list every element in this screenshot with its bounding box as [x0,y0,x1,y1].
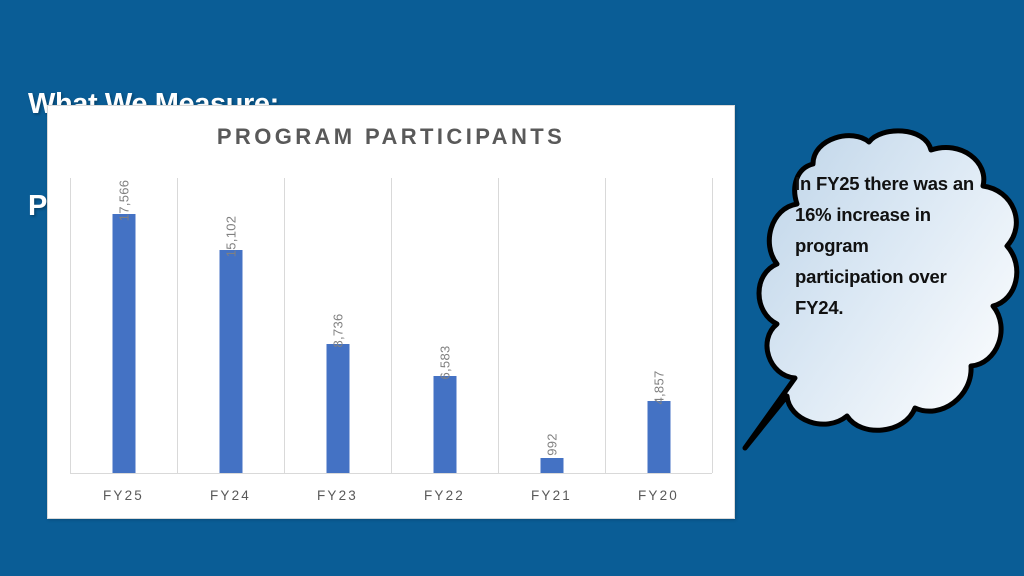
chart-bar-value-label: 992 [544,433,559,456]
chart-bar[interactable] [540,458,563,473]
chart-x-tick-label: FY21 [498,488,605,503]
chart-bar[interactable] [326,344,349,473]
chart-bar[interactable] [433,376,456,473]
chart-x-tick-label: FY24 [177,488,284,503]
chart-bar-slot: 8,736 [284,178,391,473]
chart-bar-value-label: 6,583 [437,345,452,379]
chart-bar-value-label: 17,566 [116,180,131,222]
chart-x-tick-label: FY20 [605,488,712,503]
chart-bar-slot: 17,566 [70,178,177,473]
chart-x-tick-label: FY25 [70,488,177,503]
chart-gridline [712,178,713,473]
chart-panel: PROGRAM PARTICIPANTS 17,56615,1028,7366,… [47,105,735,519]
chart-x-tick-label: FY23 [284,488,391,503]
chart-bar-slot: 15,102 [177,178,284,473]
chart-bar-value-label: 4,857 [651,370,666,404]
chart-bar[interactable] [647,401,670,473]
chart-bar-slot: 4,857 [605,178,712,473]
chart-bar-slot: 6,583 [391,178,498,473]
callout-speech-bubble: In FY25 there was an 16% increase in pro… [735,128,1024,458]
chart-bar[interactable] [112,214,135,473]
chart-x-axis-labels: FY25FY24FY23FY22FY21FY20 [70,478,712,514]
chart-bar-slot: 992 [498,178,605,473]
chart-axis-line [70,473,712,474]
chart-bar-value-label: 15,102 [223,216,238,258]
chart-x-tick-label: FY22 [391,488,498,503]
chart-bar-value-label: 8,736 [330,313,345,347]
chart-title: PROGRAM PARTICIPANTS [48,124,734,150]
chart-plot-area: 17,56615,1028,7366,5839924,857 [70,178,712,473]
chart-bar[interactable] [219,250,242,473]
callout-text: In FY25 there was an 16% increase in pro… [795,168,975,323]
